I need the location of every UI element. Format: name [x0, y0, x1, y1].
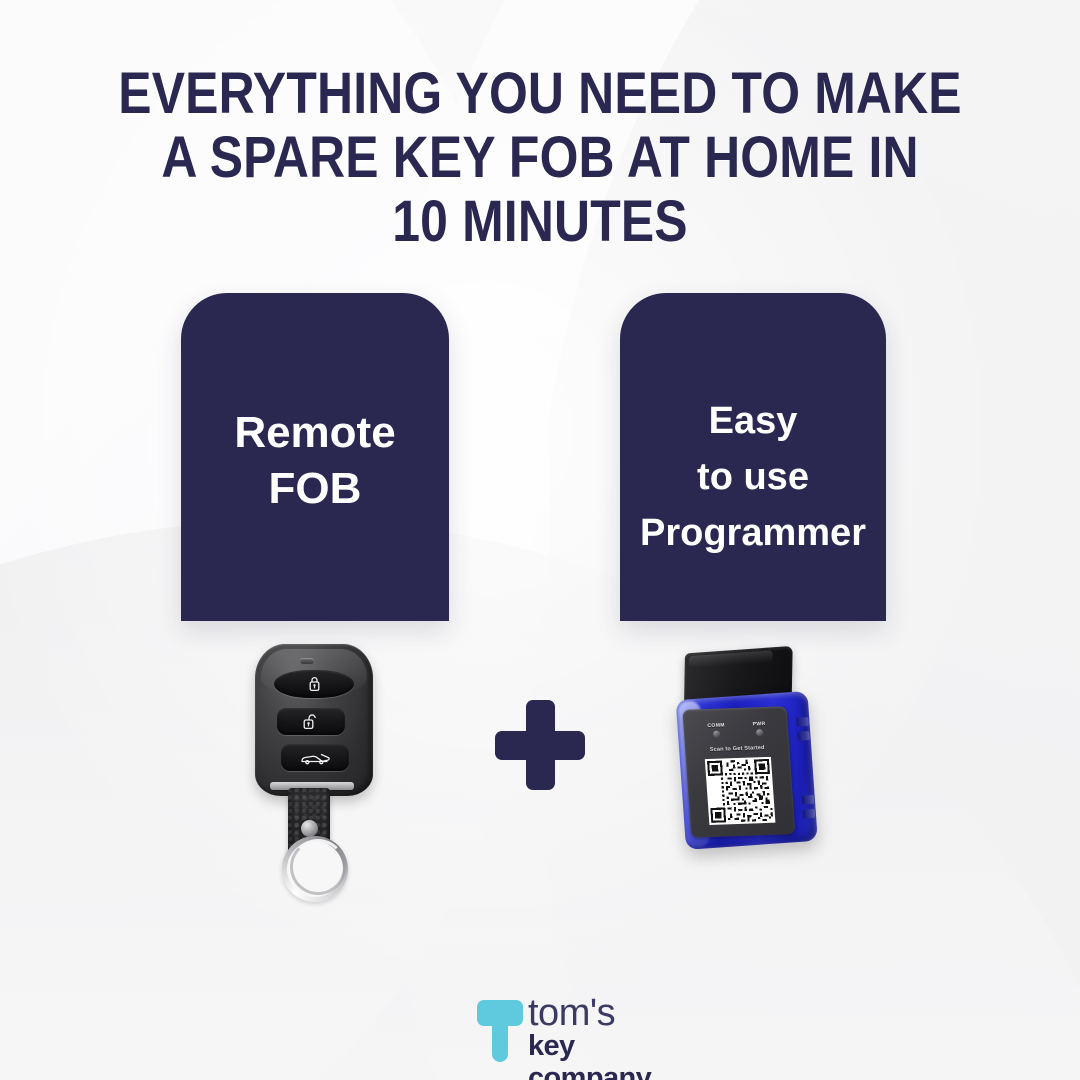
key-icon-stem	[492, 1022, 508, 1062]
programmer-side-ridge-4	[803, 809, 816, 819]
logo-name-top: tom's	[528, 994, 687, 1032]
card-remote-fob-line-1: Remote	[181, 405, 449, 461]
fob-led-indicator	[300, 658, 314, 664]
plus-icon	[495, 700, 585, 790]
headline-line-3: 10 MINUTES	[76, 190, 1005, 254]
padlock-open-icon	[277, 708, 345, 735]
fob-split-key-ring	[282, 836, 348, 902]
obd2-programmer: COMM PWR Scan to Get Started	[664, 640, 840, 881]
programmer-led-comm: COMM	[707, 722, 725, 738]
programmer-front-label: COMM PWR Scan to Get Started	[682, 706, 795, 837]
plus-icon-bar-vertical	[526, 700, 555, 790]
padlock-closed-icon	[274, 670, 354, 698]
poster-canvas: EVERYTHING YOU NEED TO MAKE A SPARE KEY …	[0, 0, 1080, 1080]
car-trunk-icon	[281, 744, 349, 771]
card-programmer: Easy to use Programmer	[620, 293, 886, 621]
programmer-led-comm-dot	[713, 731, 720, 738]
card-programmer-line-2: to use	[620, 449, 886, 505]
headline-line-1: EVERYTHING YOU NEED TO MAKE	[76, 62, 1005, 126]
headline: EVERYTHING YOU NEED TO MAKE A SPARE KEY …	[76, 62, 1005, 254]
fob-metal-rivet	[301, 820, 318, 837]
programmer-led-pwr: PWR	[753, 721, 767, 736]
key-icon	[477, 1000, 523, 1062]
card-programmer-text: Easy to use Programmer	[620, 353, 886, 561]
qr-code	[705, 757, 776, 825]
toms-key-company-logo: tom's key company	[477, 998, 687, 1064]
programmer-side-ridge-3	[802, 795, 815, 805]
programmer-side-ridge-2	[797, 731, 810, 741]
programmer-led-comm-label: COMM	[707, 722, 725, 729]
headline-line-2: A SPARE KEY FOB AT HOME IN	[76, 126, 1005, 190]
logo-name-bottom: key company	[528, 1030, 687, 1080]
logo-wordmark: tom's key company	[528, 994, 687, 1080]
card-remote-fob: Remote FOB	[181, 293, 449, 621]
card-remote-fob-line-2: FOB	[181, 461, 449, 517]
programmer-side-ridge-1	[796, 717, 809, 727]
programmer-led-row: COMM PWR	[693, 721, 780, 739]
card-programmer-line-1: Easy	[620, 393, 886, 449]
card-remote-fob-text: Remote FOB	[181, 397, 449, 517]
card-programmer-line-3: Programmer	[620, 505, 886, 561]
car-key-fob	[244, 640, 384, 890]
programmer-scan-text: Scan to Get Started	[685, 744, 789, 754]
programmer-led-pwr-dot	[756, 729, 763, 736]
programmer-led-pwr-label: PWR	[753, 721, 766, 727]
